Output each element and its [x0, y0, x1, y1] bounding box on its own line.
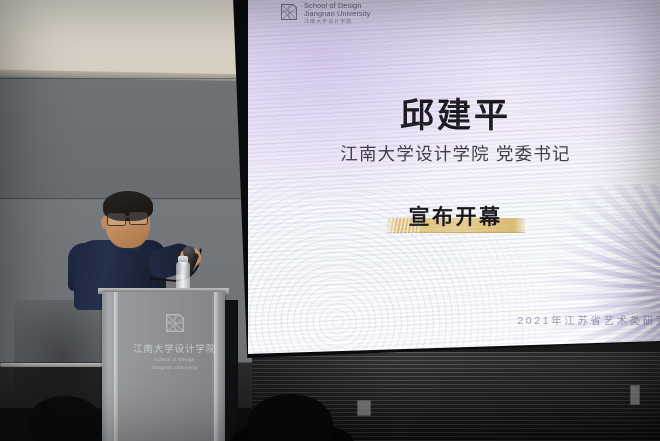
slide-cta: 宣布开幕 [387, 198, 525, 235]
wall-cream-strip [0, 0, 252, 76]
wall-outlet [357, 400, 371, 416]
lectern-logo-en1: School of Design [133, 357, 216, 363]
glasses-bridge [123, 216, 130, 218]
lectern-edge-strip [114, 292, 118, 441]
slide-logo-cn: 江南大学设计学院 [304, 20, 370, 26]
glasses-lens-left-icon [107, 213, 126, 226]
slide-logo-text: School of Design Jiangnan University 江南大… [304, 2, 370, 25]
glasses-lens-right-icon [129, 212, 148, 225]
slide-cta-text: 宣布开幕 [409, 201, 503, 231]
wall-outlet [630, 385, 640, 405]
lectern-logo-cn: 江南大学设计学院 [133, 341, 216, 355]
lectern-logo: 江南大学设计学院 School of Design Jiangnan Unive… [133, 312, 216, 371]
slide-subtitle: 江南大学设计学院 党委书记 [248, 141, 660, 166]
slide-cta-wrapper: 宣布开幕 [248, 198, 660, 235]
projection-screen: School of Design Jiangnan University 江南大… [248, 0, 660, 354]
photo-scene: School of Design Jiangnan University 江南大… [0, 0, 660, 441]
slide-footer: 2021年江苏省艺术类研究 [517, 313, 660, 328]
slide-title: 邱建平 [248, 88, 660, 137]
lectern-logo-en2: Jiangnan University [133, 365, 216, 371]
slide-logo-en2: Jiangnan University [304, 10, 370, 18]
slide-logo: School of Design Jiangnan University 江南大… [279, 2, 370, 25]
wall-seam-upper [0, 78, 252, 79]
audience-silhouette [28, 396, 102, 441]
jiangnan-design-logo-icon [164, 312, 186, 334]
jiangnan-design-logo-icon [279, 2, 299, 22]
